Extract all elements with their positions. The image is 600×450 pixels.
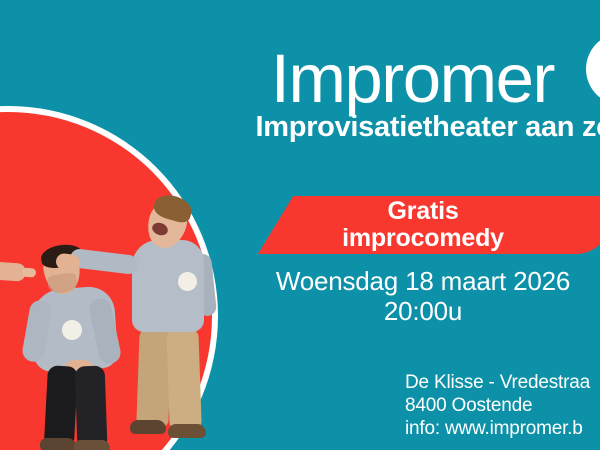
performer-left-leg-right <box>75 366 108 447</box>
event-datetime-block: Woensdag 18 maart 2026 20:00u <box>258 266 588 326</box>
venue-website: info: www.impromer.b <box>405 417 600 440</box>
poster-title: Impromer <box>0 42 598 116</box>
performer-left-shoe-left <box>40 438 76 450</box>
performer-left-leg-left <box>44 365 78 444</box>
performer-right <box>112 196 222 450</box>
performer-right-shoe-right <box>168 424 206 438</box>
performer-right-shirt-logo <box>178 272 197 291</box>
venue-address-block: De Klisse - Vredestraa 8400 Oostende inf… <box>405 371 600 440</box>
promo-banner-line-1: Gratis <box>387 198 458 225</box>
headline-block: Impromer Improvisatietheater aan ze <box>0 42 600 144</box>
poster-subtitle: Improvisatietheater aan ze <box>0 110 600 144</box>
performer-left-shoe-right <box>74 440 110 450</box>
poster-canvas: Impromer Improvisatietheater aan ze Grat… <box>0 0 600 450</box>
pointing-hand-icon <box>0 260 27 282</box>
venue-city: 8400 Oostende <box>405 394 600 417</box>
performer-right-shoe-left <box>130 420 166 434</box>
performer-left-shirt-logo <box>62 320 82 340</box>
event-time: 20:00u <box>258 296 588 326</box>
promo-banner-text: Gratis improcomedy <box>258 196 588 254</box>
performer-right-leg-right <box>166 327 201 428</box>
venue-name-street: De Klisse - Vredestraa <box>405 371 600 394</box>
promo-banner-line-2: improcomedy <box>342 225 504 252</box>
event-date: Woensdag 18 maart 2026 <box>258 266 588 296</box>
